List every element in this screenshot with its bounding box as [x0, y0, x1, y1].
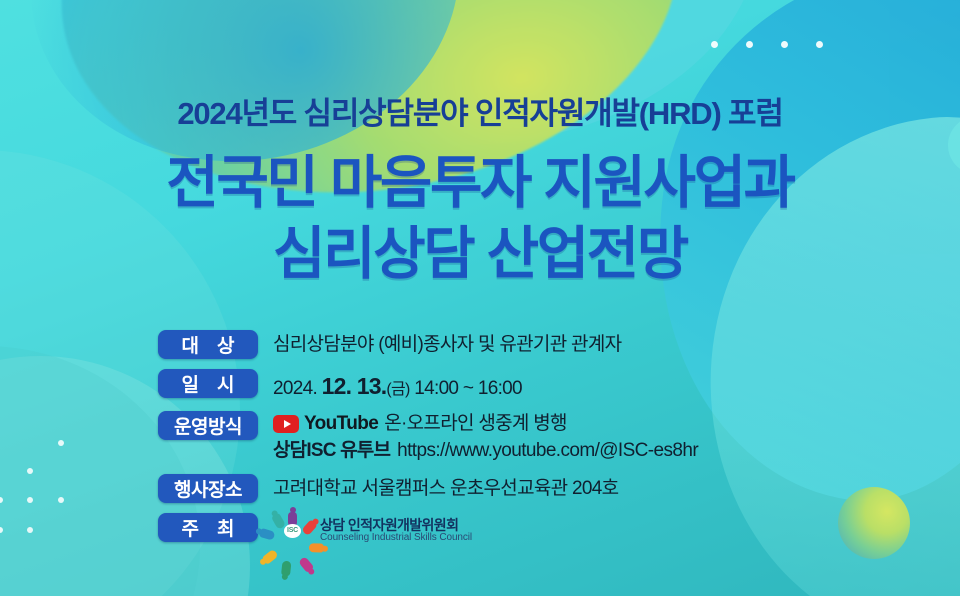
youtube-url-line[interactable]: 상담ISC 유투브 https://www.youtube.com/@ISC-e…: [273, 438, 698, 463]
info-label-audience: 대상: [158, 330, 258, 359]
youtube-channel-label: 상담ISC 유투브: [273, 438, 390, 463]
info-label-venue: 행사장소: [158, 474, 258, 503]
info-row-audience: 대상 심리상담분야 (예비)종사자 및 유관기관 관계자: [158, 330, 898, 359]
youtube-line: YouTube 온·오프라인 생중계 병행: [273, 411, 698, 436]
datetime-weekday: (금): [386, 381, 409, 398]
info-value-host: ISC 상담 인적자원개발위원회 Counseling Industrial S…: [273, 513, 472, 549]
info-value-datetime: 2024. 12. 13.(금) 14:00 ~ 16:00: [273, 369, 522, 401]
page-kicker: 2024년도 심리상담분야 인적자원개발(HRD) 포럼: [0, 88, 960, 133]
info-label-format: 운영방식: [158, 411, 258, 440]
info-row-datetime: 일시 2024. 12. 13.(금) 14:00 ~ 16:00: [158, 369, 898, 401]
info-value-venue: 고려대학교 서울캠퍼스 운초우선교육관 204호: [273, 474, 618, 501]
page-title-line-2: 심리상담 산업전망: [0, 219, 960, 290]
isc-logo-text: ISC: [284, 524, 301, 538]
info-value-audience: 심리상담분야 (예비)종사자 및 유관기관 관계자: [273, 330, 621, 357]
info-row-host: 주최 ISC 상담 인적자원개발위원회: [158, 513, 898, 549]
info-row-venue: 행사장소 고려대학교 서울캠퍼스 운초우선교육관 204호: [158, 474, 898, 503]
info-value-format: YouTube 온·오프라인 생중계 병행 상담ISC 유투브 https://…: [273, 411, 698, 463]
host-name-block: 상담 인적자원개발위원회 Counseling Industrial Skill…: [320, 518, 472, 543]
page-title-line-1: 전국민 마음투자 지원사업과: [0, 148, 960, 219]
info-label-datetime: 일시: [158, 369, 258, 398]
datetime-date: 12. 13.: [322, 373, 387, 399]
youtube-url[interactable]: https://www.youtube.com/@ISC-es8hr: [397, 438, 698, 463]
poster-canvas: 2024년도 심리상담분야 인적자원개발(HRD) 포럼 전국민 마음투자 지원…: [0, 0, 960, 596]
page-title: 전국민 마음투자 지원사업과 심리상담 산업전망: [0, 148, 960, 289]
format-description: 온·오프라인 생중계 병행: [384, 411, 567, 436]
youtube-wordmark: YouTube: [304, 411, 378, 436]
info-row-format: 운영방식 YouTube 온·오프라인 생중계 병행 상담ISC 유투브 htt…: [158, 411, 898, 463]
info-label-host: 주최: [158, 513, 258, 542]
datetime-time: 14:00 ~ 16:00: [410, 378, 522, 399]
host-name-english: Counseling Industrial Skills Council: [320, 533, 472, 544]
datetime-prefix: 2024.: [273, 378, 322, 399]
isc-logo-icon: ISC: [273, 513, 313, 549]
host-name-korean: 상담 인적자원개발위원회: [320, 518, 472, 533]
info-list: 대상 심리상담분야 (예비)종사자 및 유관기관 관계자 일시 2024. 12…: [158, 330, 898, 559]
youtube-icon: [273, 415, 299, 433]
